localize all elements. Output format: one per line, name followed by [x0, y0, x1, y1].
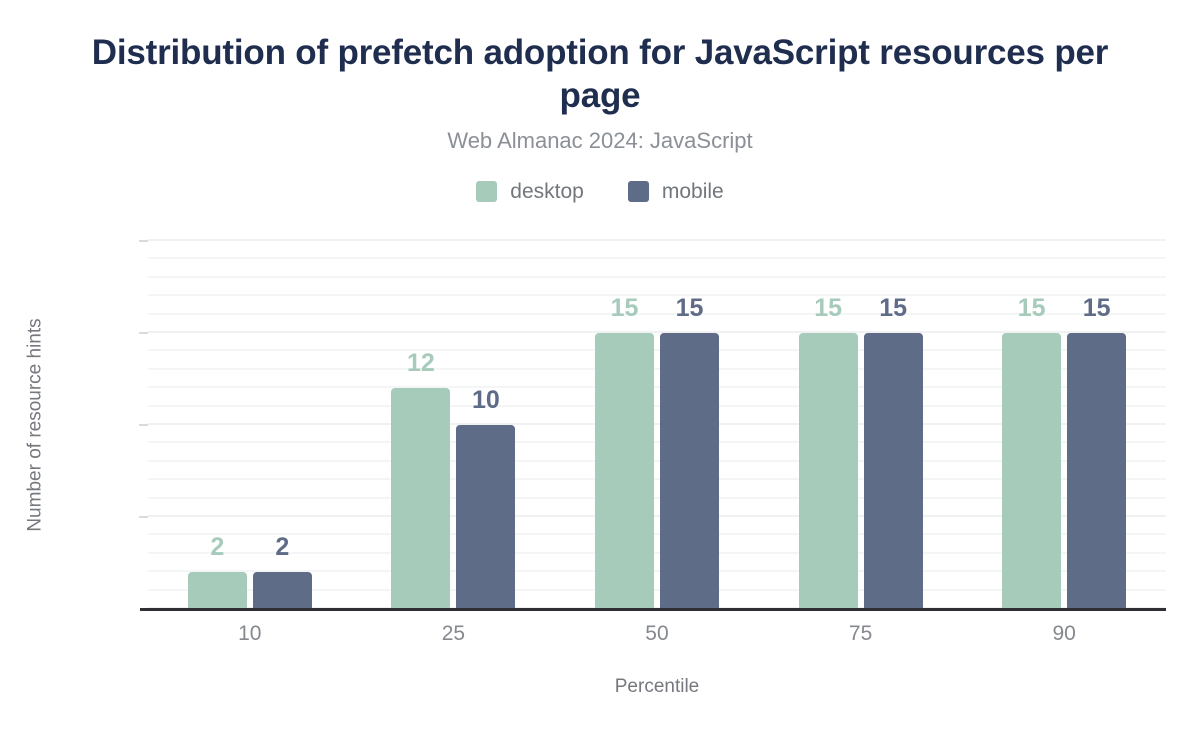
y-axis-title: Number of resource hints	[22, 241, 50, 609]
bar-desktop-p75[interactable]: 15	[799, 333, 858, 609]
plot-area: 05101520 2210121025151550151575151590	[148, 241, 1166, 609]
bar-mobile-p50[interactable]: 15	[660, 333, 719, 609]
bar-value-label: 12	[407, 351, 435, 376]
bar-desktop-p25[interactable]: 12	[391, 388, 450, 609]
chart-legend: desktop mobile	[0, 181, 1200, 202]
bar-value-label: 15	[814, 296, 842, 321]
bar-mobile-p10[interactable]: 2	[253, 572, 312, 609]
bar-mobile-p25[interactable]: 10	[456, 425, 515, 609]
legend-label-mobile: mobile	[662, 181, 724, 202]
bar-mobile-p90[interactable]: 15	[1067, 333, 1126, 609]
chart-title: Distribution of prefetch adoption for Ja…	[0, 32, 1200, 117]
x-axis-line	[140, 608, 1166, 611]
bar-desktop-p90[interactable]: 15	[1002, 333, 1061, 609]
y-axis-title-text: Number of resource hints	[25, 318, 47, 531]
legend-swatch-mobile	[628, 181, 649, 202]
x-axis-tick-label: 50	[645, 623, 668, 644]
bar-value-label: 15	[611, 296, 639, 321]
bar-group: 151550	[555, 241, 759, 609]
bar-value-label: 2	[275, 535, 289, 560]
bar-group: 151575	[759, 241, 963, 609]
x-axis-tick-label: 75	[849, 623, 872, 644]
y-axis-tick-mark	[139, 516, 148, 518]
bar-mobile-p75[interactable]: 15	[864, 333, 923, 609]
y-axis-tick-mark	[139, 424, 148, 426]
y-axis-tick-mark	[139, 240, 148, 242]
y-axis-tick-mark	[139, 332, 148, 334]
bar-value-label: 15	[676, 296, 704, 321]
bar-value-label: 15	[1018, 296, 1046, 321]
chart-subtitle: Web Almanac 2024: JavaScript	[0, 128, 1200, 154]
legend-label-desktop: desktop	[510, 181, 584, 202]
x-axis-tick-label: 10	[238, 623, 261, 644]
bar-desktop-p50[interactable]: 15	[595, 333, 654, 609]
bar-group: 151590	[962, 241, 1166, 609]
bar-value-label: 15	[879, 296, 907, 321]
bar-value-label: 10	[472, 388, 500, 413]
x-axis-tick-label: 90	[1053, 623, 1076, 644]
bar-desktop-p10[interactable]: 2	[188, 572, 247, 609]
x-axis-tick-label: 25	[442, 623, 465, 644]
legend-item-mobile[interactable]: mobile	[628, 181, 724, 202]
legend-swatch-desktop	[476, 181, 497, 202]
legend-item-desktop[interactable]: desktop	[476, 181, 584, 202]
x-axis-title: Percentile	[148, 676, 1166, 698]
bar-value-label: 2	[210, 535, 224, 560]
bar-group: 2210	[148, 241, 352, 609]
chart-container: Distribution of prefetch adoption for Ja…	[0, 0, 1200, 742]
bar-value-label: 15	[1083, 296, 1111, 321]
bar-group: 121025	[352, 241, 556, 609]
